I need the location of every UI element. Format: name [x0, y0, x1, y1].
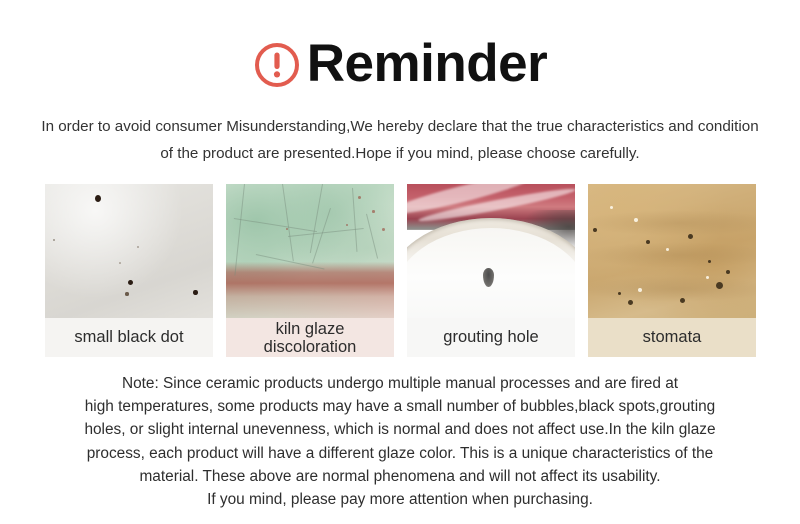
stomata-image	[588, 184, 756, 318]
reminder-page: Reminder In order to avoid consumer Misu…	[0, 0, 800, 524]
subtitle-line: of the product are presented.Hope if you…	[28, 140, 772, 167]
note-line: Note: Since ceramic products undergo mul…	[20, 372, 780, 395]
note-paragraph: Note: Since ceramic products undergo mul…	[20, 372, 780, 511]
note-line: high temperatures, some products may hav…	[20, 395, 780, 418]
card-caption: stomata	[588, 318, 756, 357]
card-caption-text: small black dot	[74, 328, 183, 347]
subtitle: In order to avoid consumer Misunderstand…	[28, 113, 772, 167]
small-black-dot-image	[45, 184, 213, 318]
note-line: material. These above are normal phenome…	[20, 465, 780, 488]
card-caption: kiln glaze discoloration	[226, 318, 394, 357]
defect-card-kiln-glaze-discoloration: kiln glaze discoloration	[226, 184, 394, 357]
page-header: Reminder	[0, 30, 800, 96]
card-caption-text: kiln glaze discoloration	[264, 320, 357, 356]
note-line: process, each product will have a differ…	[20, 442, 780, 465]
note-line: If you mind, please pay more attention w…	[20, 488, 780, 511]
grouting-hole-image	[407, 184, 575, 318]
defect-card-stomata: stomata	[588, 184, 756, 357]
exclamation-circle-icon	[253, 41, 301, 89]
card-caption-text: stomata	[643, 328, 702, 347]
defect-card-row: small black dot	[45, 184, 756, 357]
note-line: holes, or slight internal unevenness, wh…	[20, 418, 780, 441]
card-caption: small black dot	[45, 318, 213, 357]
card-caption-text: grouting hole	[443, 328, 538, 347]
defect-card-grouting-hole: grouting hole	[407, 184, 575, 357]
card-caption: grouting hole	[407, 318, 575, 357]
page-title: Reminder	[307, 37, 547, 90]
subtitle-line: In order to avoid consumer Misunderstand…	[28, 113, 772, 140]
card-caption-line: discoloration	[264, 338, 357, 356]
defect-card-small-black-dot: small black dot	[45, 184, 213, 357]
kiln-glaze-discoloration-image	[226, 184, 394, 318]
card-caption-line: kiln glaze	[264, 320, 357, 338]
